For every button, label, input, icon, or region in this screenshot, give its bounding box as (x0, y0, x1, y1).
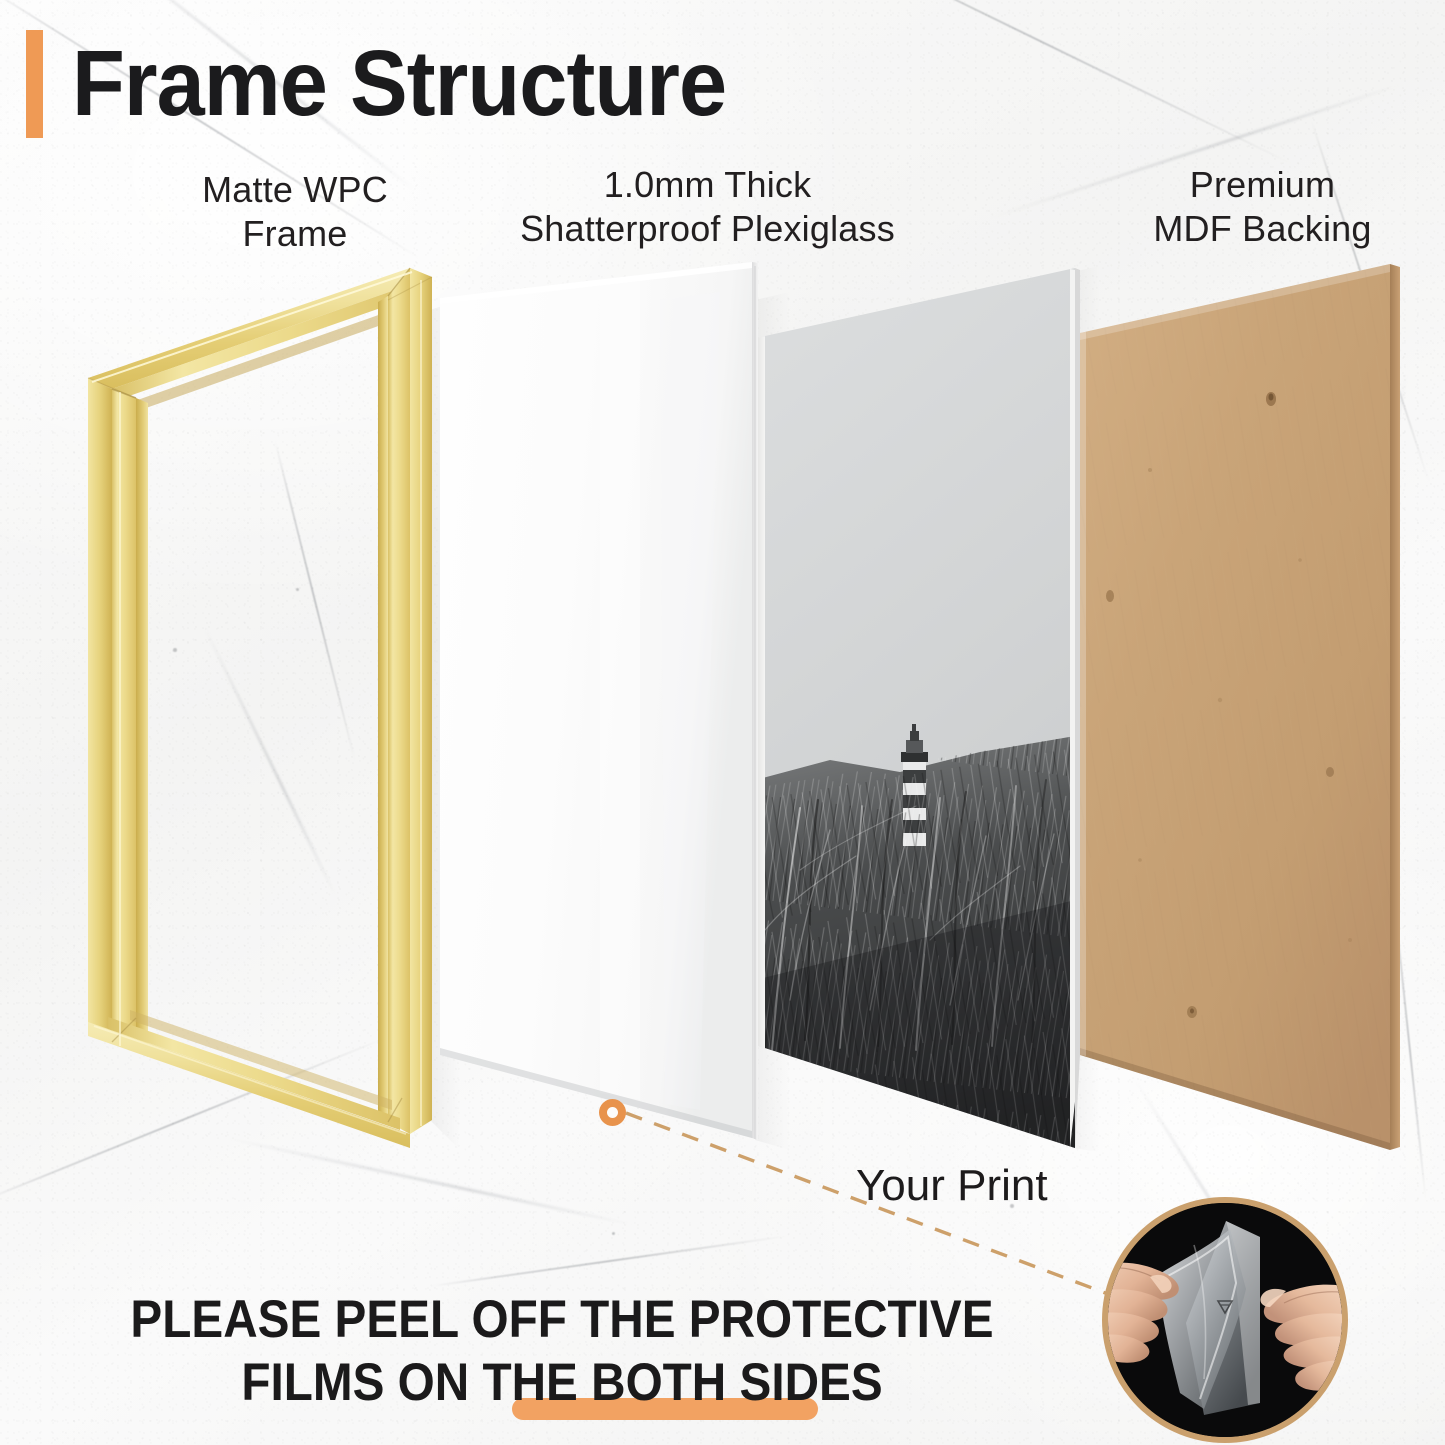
print-callout-marker (599, 1099, 626, 1126)
peel-protective-film-photo (1102, 1197, 1348, 1443)
plexiglass-part (440, 262, 758, 1140)
caption-matte-wpc-frame: Matte WPC Frame (120, 168, 470, 256)
frame-left-inner-lip (136, 398, 148, 1057)
caption-your-print: Your Print (856, 1160, 1048, 1212)
frame-left-rail (88, 378, 112, 1042)
mdf-backing-part (1080, 264, 1400, 1150)
peel-film-notice: PLEASE PEEL OFF THE PROTECTIVE FILMS ON … (112, 1288, 1012, 1414)
infographic-canvas: Frame Structure Matte WPC Frame 1.0mm Th… (0, 0, 1445, 1445)
title-accent-bar (26, 30, 43, 138)
photo-print-part (755, 255, 1085, 1160)
inset-photo-svg (1108, 1203, 1342, 1437)
print-right-edge (1075, 268, 1080, 1148)
frame-right-face (388, 268, 410, 1134)
print-photo (755, 255, 1085, 1160)
caption-shatterproof-plexiglass: 1.0mm Thick Shatterproof Plexiglass (455, 163, 960, 251)
plexiglass-specular (600, 276, 640, 1100)
frame-right-inner-lip (378, 296, 388, 1122)
wpc-frame-part (88, 268, 432, 1148)
frame-bottom-face (108, 1017, 400, 1130)
mdf-backing-edge (1390, 264, 1400, 1150)
caption-premium-mdf-backing: Premium MDF Backing (1085, 163, 1440, 251)
frame-left-face (112, 389, 136, 1052)
page-title: Frame Structure (72, 28, 726, 138)
frame-bottom-highlight (94, 1026, 406, 1134)
